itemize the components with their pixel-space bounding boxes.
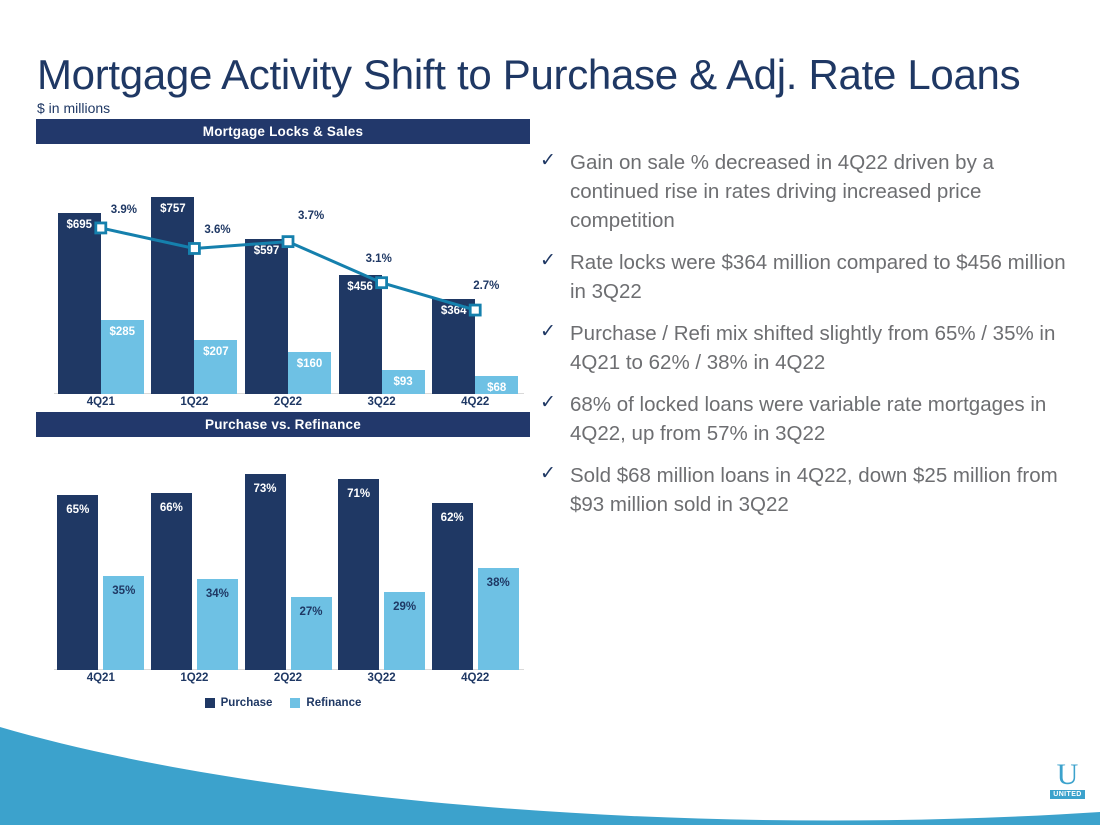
category-label-4q22: 4Q22: [435, 672, 515, 684]
gain-on-sale-label-1q22: 3.6%: [204, 224, 230, 236]
bar-label: 71%: [338, 488, 379, 500]
logo-wordmark: UNITED: [1050, 790, 1084, 799]
check-icon: ✓: [540, 248, 570, 274]
bar-label: 27%: [291, 606, 332, 618]
bar-label: 62%: [432, 512, 473, 524]
page-number: 22: [1018, 777, 1037, 797]
gain-on-sale-label-3q22: 3.1%: [366, 253, 392, 265]
bar-2q22-purchase: 73%: [245, 474, 286, 670]
chart-purchase-vs-refinance: Purchase vs. Refinance 65%35%66%34%73%27…: [36, 412, 530, 714]
bar-2q22-refinance: 27%: [291, 597, 332, 670]
page-title: Mortgage Activity Shift to Purchase & Ad…: [37, 50, 1067, 100]
bar-4q22-purchase: 62%: [432, 503, 473, 670]
line-marker: [96, 223, 106, 233]
bar-4q21-refinance: 35%: [103, 576, 144, 670]
bar-label: 34%: [197, 588, 238, 600]
bullet-text: Rate locks were $364 million compared to…: [570, 248, 1070, 306]
check-icon: ✓: [540, 148, 570, 174]
category-label-3q22: 3Q22: [342, 396, 422, 408]
chart1-title: Mortgage Locks & Sales: [36, 119, 530, 144]
chart2-plot-area: 65%35%66%34%73%27%71%29%62%38%: [36, 437, 530, 670]
bullet-text: Gain on sale % decreased in 4Q22 driven …: [570, 148, 1070, 235]
category-label-4q22: 4Q22: [435, 396, 515, 408]
category-label-1q22: 1Q22: [154, 672, 234, 684]
bullet-item: ✓Rate locks were $364 million compared t…: [540, 248, 1070, 306]
check-icon: ✓: [540, 461, 570, 487]
category-label-4q21: 4Q21: [61, 396, 141, 408]
category-label-2q22: 2Q22: [248, 396, 328, 408]
category-label-4q21: 4Q21: [61, 672, 141, 684]
category-label-1q22: 1Q22: [154, 396, 234, 408]
bullet-item: ✓Purchase / Refi mix shifted slightly fr…: [540, 319, 1070, 377]
line-marker: [470, 305, 480, 315]
logo-letter: U: [1057, 761, 1079, 789]
bar-label: 66%: [151, 502, 192, 514]
bar-label: 65%: [57, 504, 98, 516]
bar-label: 35%: [103, 585, 144, 597]
check-icon: ✓: [540, 390, 570, 416]
bar-3q22-refinance: 29%: [384, 592, 425, 670]
united-logo: U UNITED: [1045, 755, 1090, 805]
gain-on-sale-label-2q22: 3.7%: [298, 210, 324, 222]
chart-mortgage-locks-and-sales: Mortgage Locks & Sales $695$285$757$207$…: [36, 119, 530, 438]
units-subtitle: $ in millions: [37, 100, 110, 116]
bullet-text: Sold $68 million loans in 4Q22, down $25…: [570, 461, 1070, 519]
bar-3q22-purchase: 71%: [338, 479, 379, 670]
bar-4q22-refinance: 38%: [478, 568, 519, 670]
chart2-title: Purchase vs. Refinance: [36, 412, 530, 437]
bullet-item: ✓Sold $68 million loans in 4Q22, down $2…: [540, 461, 1070, 519]
gain-on-sale-line-series: [36, 144, 530, 394]
chart2-category-labels: 4Q211Q222Q223Q224Q22: [36, 670, 530, 692]
category-label-2q22: 2Q22: [248, 672, 328, 684]
category-label-3q22: 3Q22: [342, 672, 422, 684]
gain-on-sale-label-4q21: 3.9%: [111, 204, 137, 216]
footer-wave: [0, 700, 1100, 825]
chart1-plot-area: $695$285$757$207$597$160$456$93$364$683.…: [36, 144, 530, 394]
bar-1q22-refinance: 34%: [197, 579, 238, 670]
bullet-item: ✓68% of locked loans were variable rate …: [540, 390, 1070, 448]
slide-root: Mortgage Activity Shift to Purchase & Ad…: [0, 0, 1100, 825]
bullet-item: ✓Gain on sale % decreased in 4Q22 driven…: [540, 148, 1070, 235]
bar-label: 38%: [478, 577, 519, 589]
gain-on-sale-label-4q22: 2.7%: [473, 280, 499, 292]
bar-1q22-purchase: 66%: [151, 493, 192, 670]
check-icon: ✓: [540, 319, 570, 345]
bar-label: 73%: [245, 483, 286, 495]
line-marker: [189, 243, 199, 253]
line-marker: [283, 237, 293, 247]
line-marker: [377, 278, 387, 288]
bullet-list: ✓Gain on sale % decreased in 4Q22 driven…: [540, 148, 1070, 532]
bar-label: 29%: [384, 601, 425, 613]
bullet-text: 68% of locked loans were variable rate m…: [570, 390, 1070, 448]
bar-4q21-purchase: 65%: [57, 495, 98, 670]
bullet-text: Purchase / Refi mix shifted slightly fro…: [570, 319, 1070, 377]
